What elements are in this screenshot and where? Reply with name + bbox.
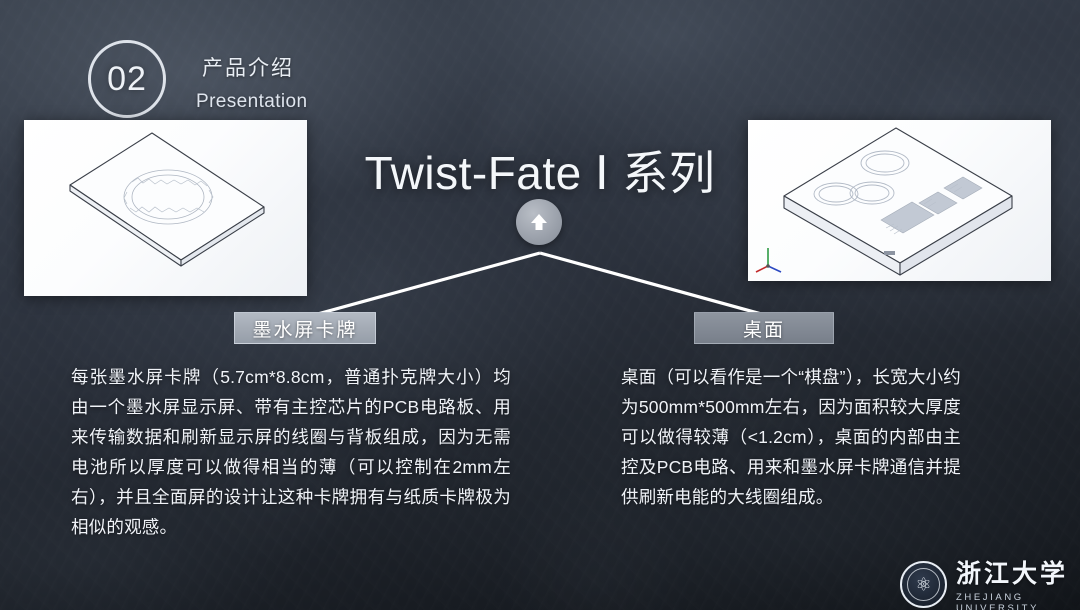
badge-table-label: 桌面 [743,315,785,342]
badge-ink-screen-card-label: 墨水屏卡牌 [252,315,357,342]
card-cad-image [24,120,307,296]
section-number-label: 02 [107,60,147,99]
section-number-badge: 02 [88,40,166,118]
section-title-cn: 产品介绍 [202,52,294,82]
up-arrow-icon[interactable] [516,199,562,245]
section-title-en: Presentation [196,91,307,113]
university-logo: ⚛ 浙江大学 ZHEJIANG UNIVERSITY [900,554,1080,610]
logo-name-cn: 浙江大学 [956,554,1080,590]
right-body-text: 桌面（可以看作是一个“棋盘”），长宽大小约为500mm*500mm左右，因为面积… [621,362,961,512]
left-body-text: 每张墨水屏卡牌（5.7cm*8.8cm，普通扑克牌大小）均由一个墨水屏显示屏、带… [71,362,511,542]
slide-root: 02 产品介绍 Presentation Twist-Fate Ⅰ 系列 [0,0,1080,610]
badge-table[interactable]: 桌面 [694,312,834,344]
badge-ink-screen-card[interactable]: 墨水屏卡牌 [234,312,376,344]
table-cad-image [748,120,1051,281]
zju-emblem-icon: ⚛ [900,561,947,608]
logo-text-block: 浙江大学 ZHEJIANG UNIVERSITY [956,554,1080,610]
logo-name-en: ZHEJIANG UNIVERSITY [956,592,1080,610]
up-arrow-glyph [528,211,550,233]
zju-emblem-bird: ⚛ [915,575,931,593]
table-cad-svg [748,120,1051,281]
card-cad-svg [24,120,307,296]
